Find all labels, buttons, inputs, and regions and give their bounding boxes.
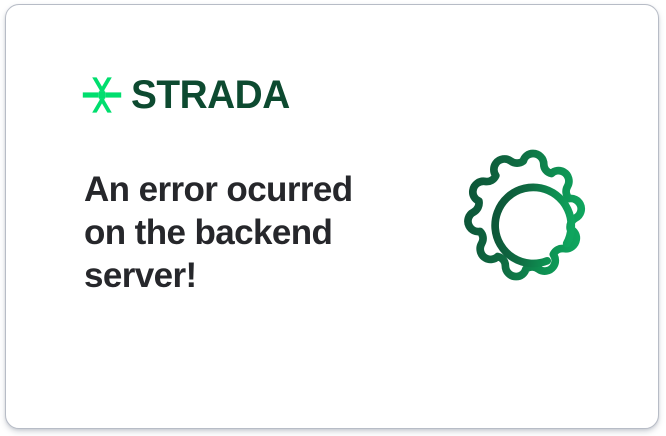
gear-cog-icon [452, 145, 614, 307]
brand-wordmark: STRADA [131, 75, 290, 115]
error-card: STRADA An error ocurred on the backend s… [5, 4, 659, 429]
error-message: An error ocurred on the backend server! [84, 168, 384, 297]
brand-lockup: STRADA [82, 75, 295, 115]
strada-asterisk-icon [82, 75, 122, 115]
